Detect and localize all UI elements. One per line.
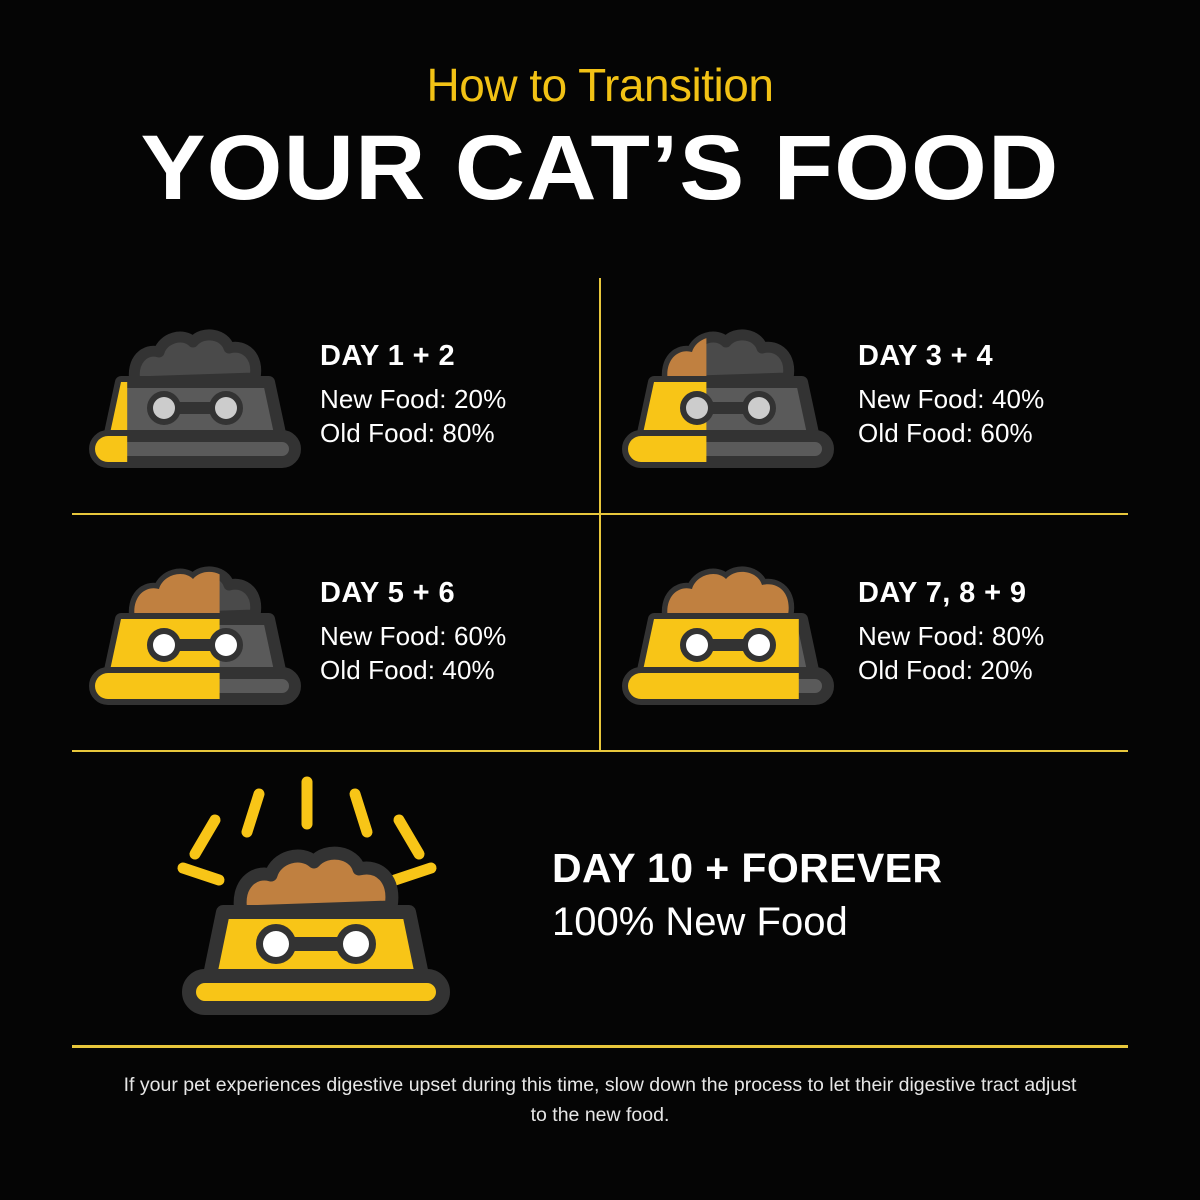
step-new-food: New Food: 40% xyxy=(858,382,1128,416)
step-card-day-3-4: DAY 3 + 4 New Food: 40% Old Food: 60% xyxy=(600,278,1128,513)
step-old-food: Old Food: 40% xyxy=(320,653,600,687)
bowl-slot xyxy=(600,320,858,472)
infographic-page: How to Transition YOUR CAT’S FOOD xyxy=(0,0,1200,1200)
pet-food-bowl-icon xyxy=(614,320,844,472)
pet-food-bowl-icon xyxy=(81,320,311,472)
step-card-day-5-6: DAY 5 + 6 New Food: 60% Old Food: 40% xyxy=(72,515,600,750)
step-title: DAY 3 + 4 xyxy=(858,341,1128,373)
page-title: YOUR CAT’S FOOD xyxy=(0,122,1200,214)
bowl-slot xyxy=(72,557,320,709)
step-old-food: Old Food: 20% xyxy=(858,653,1128,687)
pet-food-bowl-icon xyxy=(81,557,311,709)
grid-horizontal-divider-bottom xyxy=(72,750,1128,752)
step-title: DAY 1 + 2 xyxy=(320,341,600,373)
step-new-food: New Food: 20% xyxy=(320,382,600,416)
final-step-subtitle: 100% New Food xyxy=(552,898,1128,946)
pet-food-bowl-icon xyxy=(157,772,457,1020)
step-text: DAY 1 + 2 New Food: 20% Old Food: 80% xyxy=(320,341,600,451)
bowl-slot xyxy=(600,557,858,709)
step-old-food: Old Food: 80% xyxy=(320,416,600,450)
step-title: DAY 5 + 6 xyxy=(320,578,600,610)
final-step-title: DAY 10 + FOREVER xyxy=(552,846,1128,891)
final-step-text: DAY 10 + FOREVER 100% New Food xyxy=(542,846,1128,945)
step-card-day-1-2: DAY 1 + 2 New Food: 20% Old Food: 80% xyxy=(72,278,600,513)
bowl-slot xyxy=(72,772,542,1020)
step-old-food: Old Food: 60% xyxy=(858,416,1128,450)
steps-grid: DAY 1 + 2 New Food: 20% Old Food: 80% xyxy=(72,278,1128,752)
step-title: DAY 7, 8 + 9 xyxy=(858,578,1128,610)
step-card-day-7-8-9: DAY 7, 8 + 9 New Food: 80% Old Food: 20% xyxy=(600,515,1128,750)
step-new-food: New Food: 80% xyxy=(858,619,1128,653)
pet-food-bowl-icon xyxy=(614,557,844,709)
step-new-food: New Food: 60% xyxy=(320,619,600,653)
footer-divider xyxy=(72,1045,1128,1048)
footer-note: If your pet experiences digestive upset … xyxy=(120,1070,1080,1130)
step-text: DAY 5 + 6 New Food: 60% Old Food: 40% xyxy=(320,578,600,688)
step-text: DAY 3 + 4 New Food: 40% Old Food: 60% xyxy=(858,341,1128,451)
page-kicker: How to Transition xyxy=(0,62,1200,108)
step-text: DAY 7, 8 + 9 New Food: 80% Old Food: 20% xyxy=(858,578,1128,688)
header: How to Transition YOUR CAT’S FOOD xyxy=(0,0,1200,214)
final-step-card: DAY 10 + FOREVER 100% New Food xyxy=(72,762,1128,1030)
bowl-slot xyxy=(72,320,320,472)
